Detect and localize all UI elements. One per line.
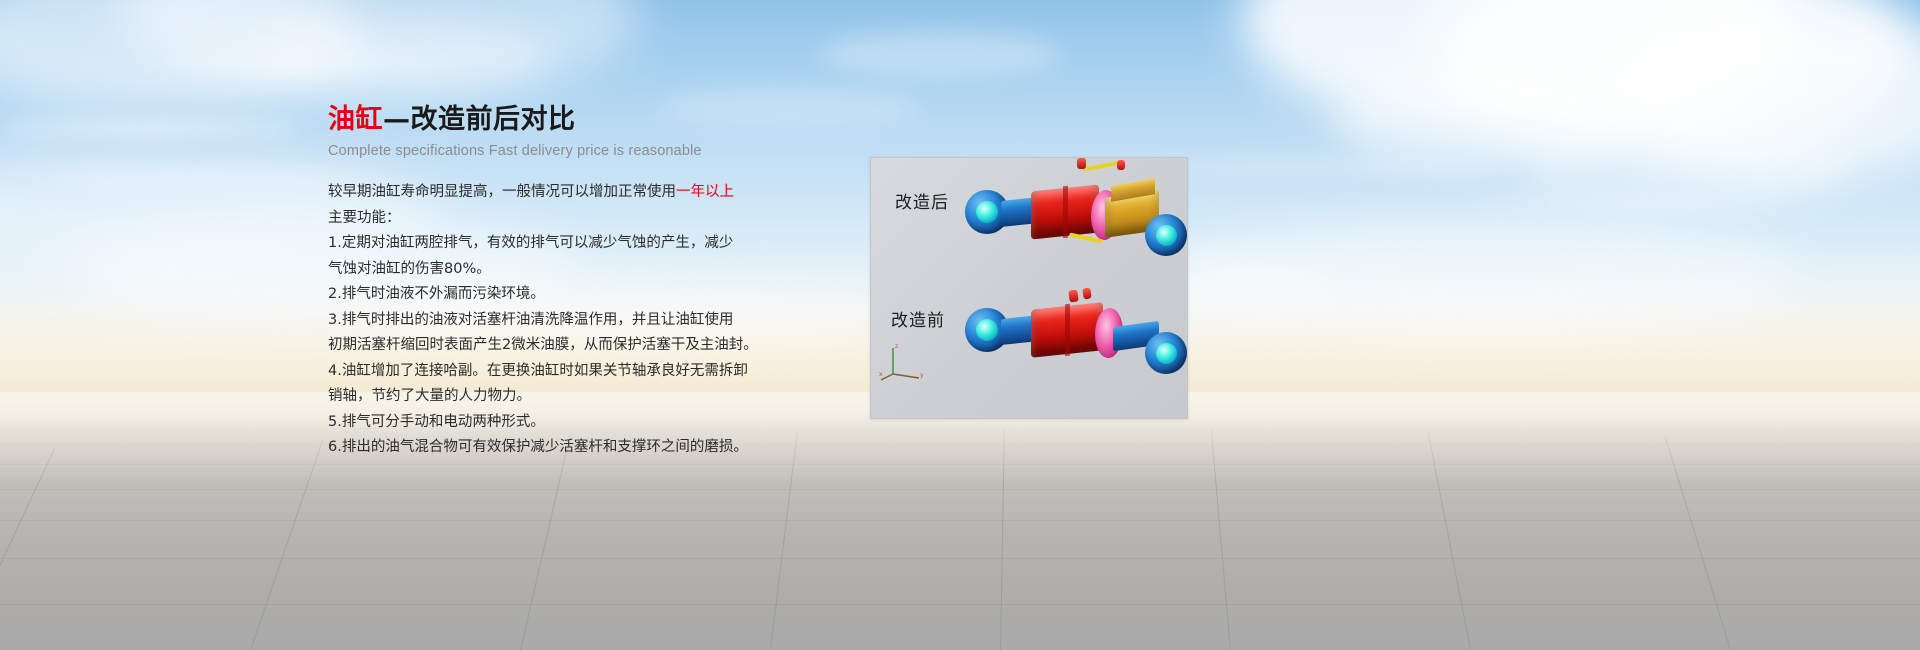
label-before-modification: 改造前 bbox=[891, 306, 945, 331]
intro-line-1-highlight: 一年以上 bbox=[676, 184, 734, 200]
list-item: 2.排气时油液不外漏而污染环境。 bbox=[328, 282, 798, 308]
banner-text-block: 油缸—改造前后对比 Complete specifications Fast d… bbox=[328, 104, 798, 461]
intro-line-2: 主要功能： bbox=[328, 206, 798, 232]
list-item-cont: 销轴，节约了大量的人力物力。 bbox=[328, 384, 798, 410]
banner-stage: 油缸—改造前后对比 Complete specifications Fast d… bbox=[0, 0, 1920, 650]
comparison-image-panel: 改造后 改造前 bbox=[870, 157, 1188, 419]
page-title: 油缸—改造前后对比 bbox=[328, 104, 798, 135]
svg-text:x: x bbox=[879, 371, 883, 378]
list-item: 4.油缸增加了连接哈副。在更换油缸时如果关节轴承良好无需拆卸 bbox=[328, 359, 798, 385]
list-item-cont: 气蚀对油缸的伤害80%。 bbox=[328, 257, 798, 283]
list-item: 5.排气可分手动和电动两种形式。 bbox=[328, 410, 798, 436]
list-item: 3.排气时排出的油液对活塞杆油清洗降温作用，并且让油缸使用 bbox=[328, 308, 798, 334]
list-item: 6.排出的油气混合物可有效保护减少活塞杆和支撑环之间的磨损。 bbox=[328, 435, 798, 461]
exhaust-valve-knob-before bbox=[1068, 289, 1079, 302]
intro-line-1: 较早期油缸寿命明显提高，一般情况可以增加正常使用一年以上 bbox=[328, 180, 798, 206]
exhaust-valve-knob2-before bbox=[1082, 287, 1091, 299]
list-item-cont: 初期活塞杆缩回时表面产生2微米油膜，从而保护活塞干及主油封。 bbox=[328, 333, 798, 359]
page-subtitle: Complete specifications Fast delivery pr… bbox=[328, 143, 798, 159]
list-item: 1.定期对油缸两腔排气，有效的排气可以减少气蚀的产生，减少 bbox=[328, 231, 798, 257]
svg-text:z: z bbox=[895, 343, 898, 350]
barrel-rib-before bbox=[1065, 304, 1070, 357]
exhaust-valve-knob-after bbox=[1077, 158, 1086, 169]
cylinder-after-modification bbox=[965, 166, 1185, 284]
bearing-left-before bbox=[976, 319, 998, 341]
svg-text:y: y bbox=[920, 372, 924, 379]
ground-plaza bbox=[0, 392, 1920, 650]
bearing-right-after bbox=[1156, 225, 1177, 246]
exhaust-valve-knob2-after bbox=[1117, 160, 1125, 170]
barrel-rib-after bbox=[1063, 186, 1068, 239]
intro-line-1-text: 较早期油缸寿命明显提高，一般情况可以增加正常使用 bbox=[328, 184, 676, 200]
title-rest: —改造前后对比 bbox=[383, 104, 576, 135]
cylinder-before-modification bbox=[965, 284, 1185, 402]
coordinate-axis-icon: z y x bbox=[879, 340, 927, 382]
bearing-right-before bbox=[1156, 343, 1177, 364]
body-copy: 较早期油缸寿命明显提高，一般情况可以增加正常使用一年以上 主要功能： 1.定期对… bbox=[328, 180, 798, 461]
label-after-modification: 改造后 bbox=[895, 188, 949, 213]
title-highlight: 油缸 bbox=[328, 104, 383, 135]
bearing-left-after bbox=[976, 201, 998, 223]
